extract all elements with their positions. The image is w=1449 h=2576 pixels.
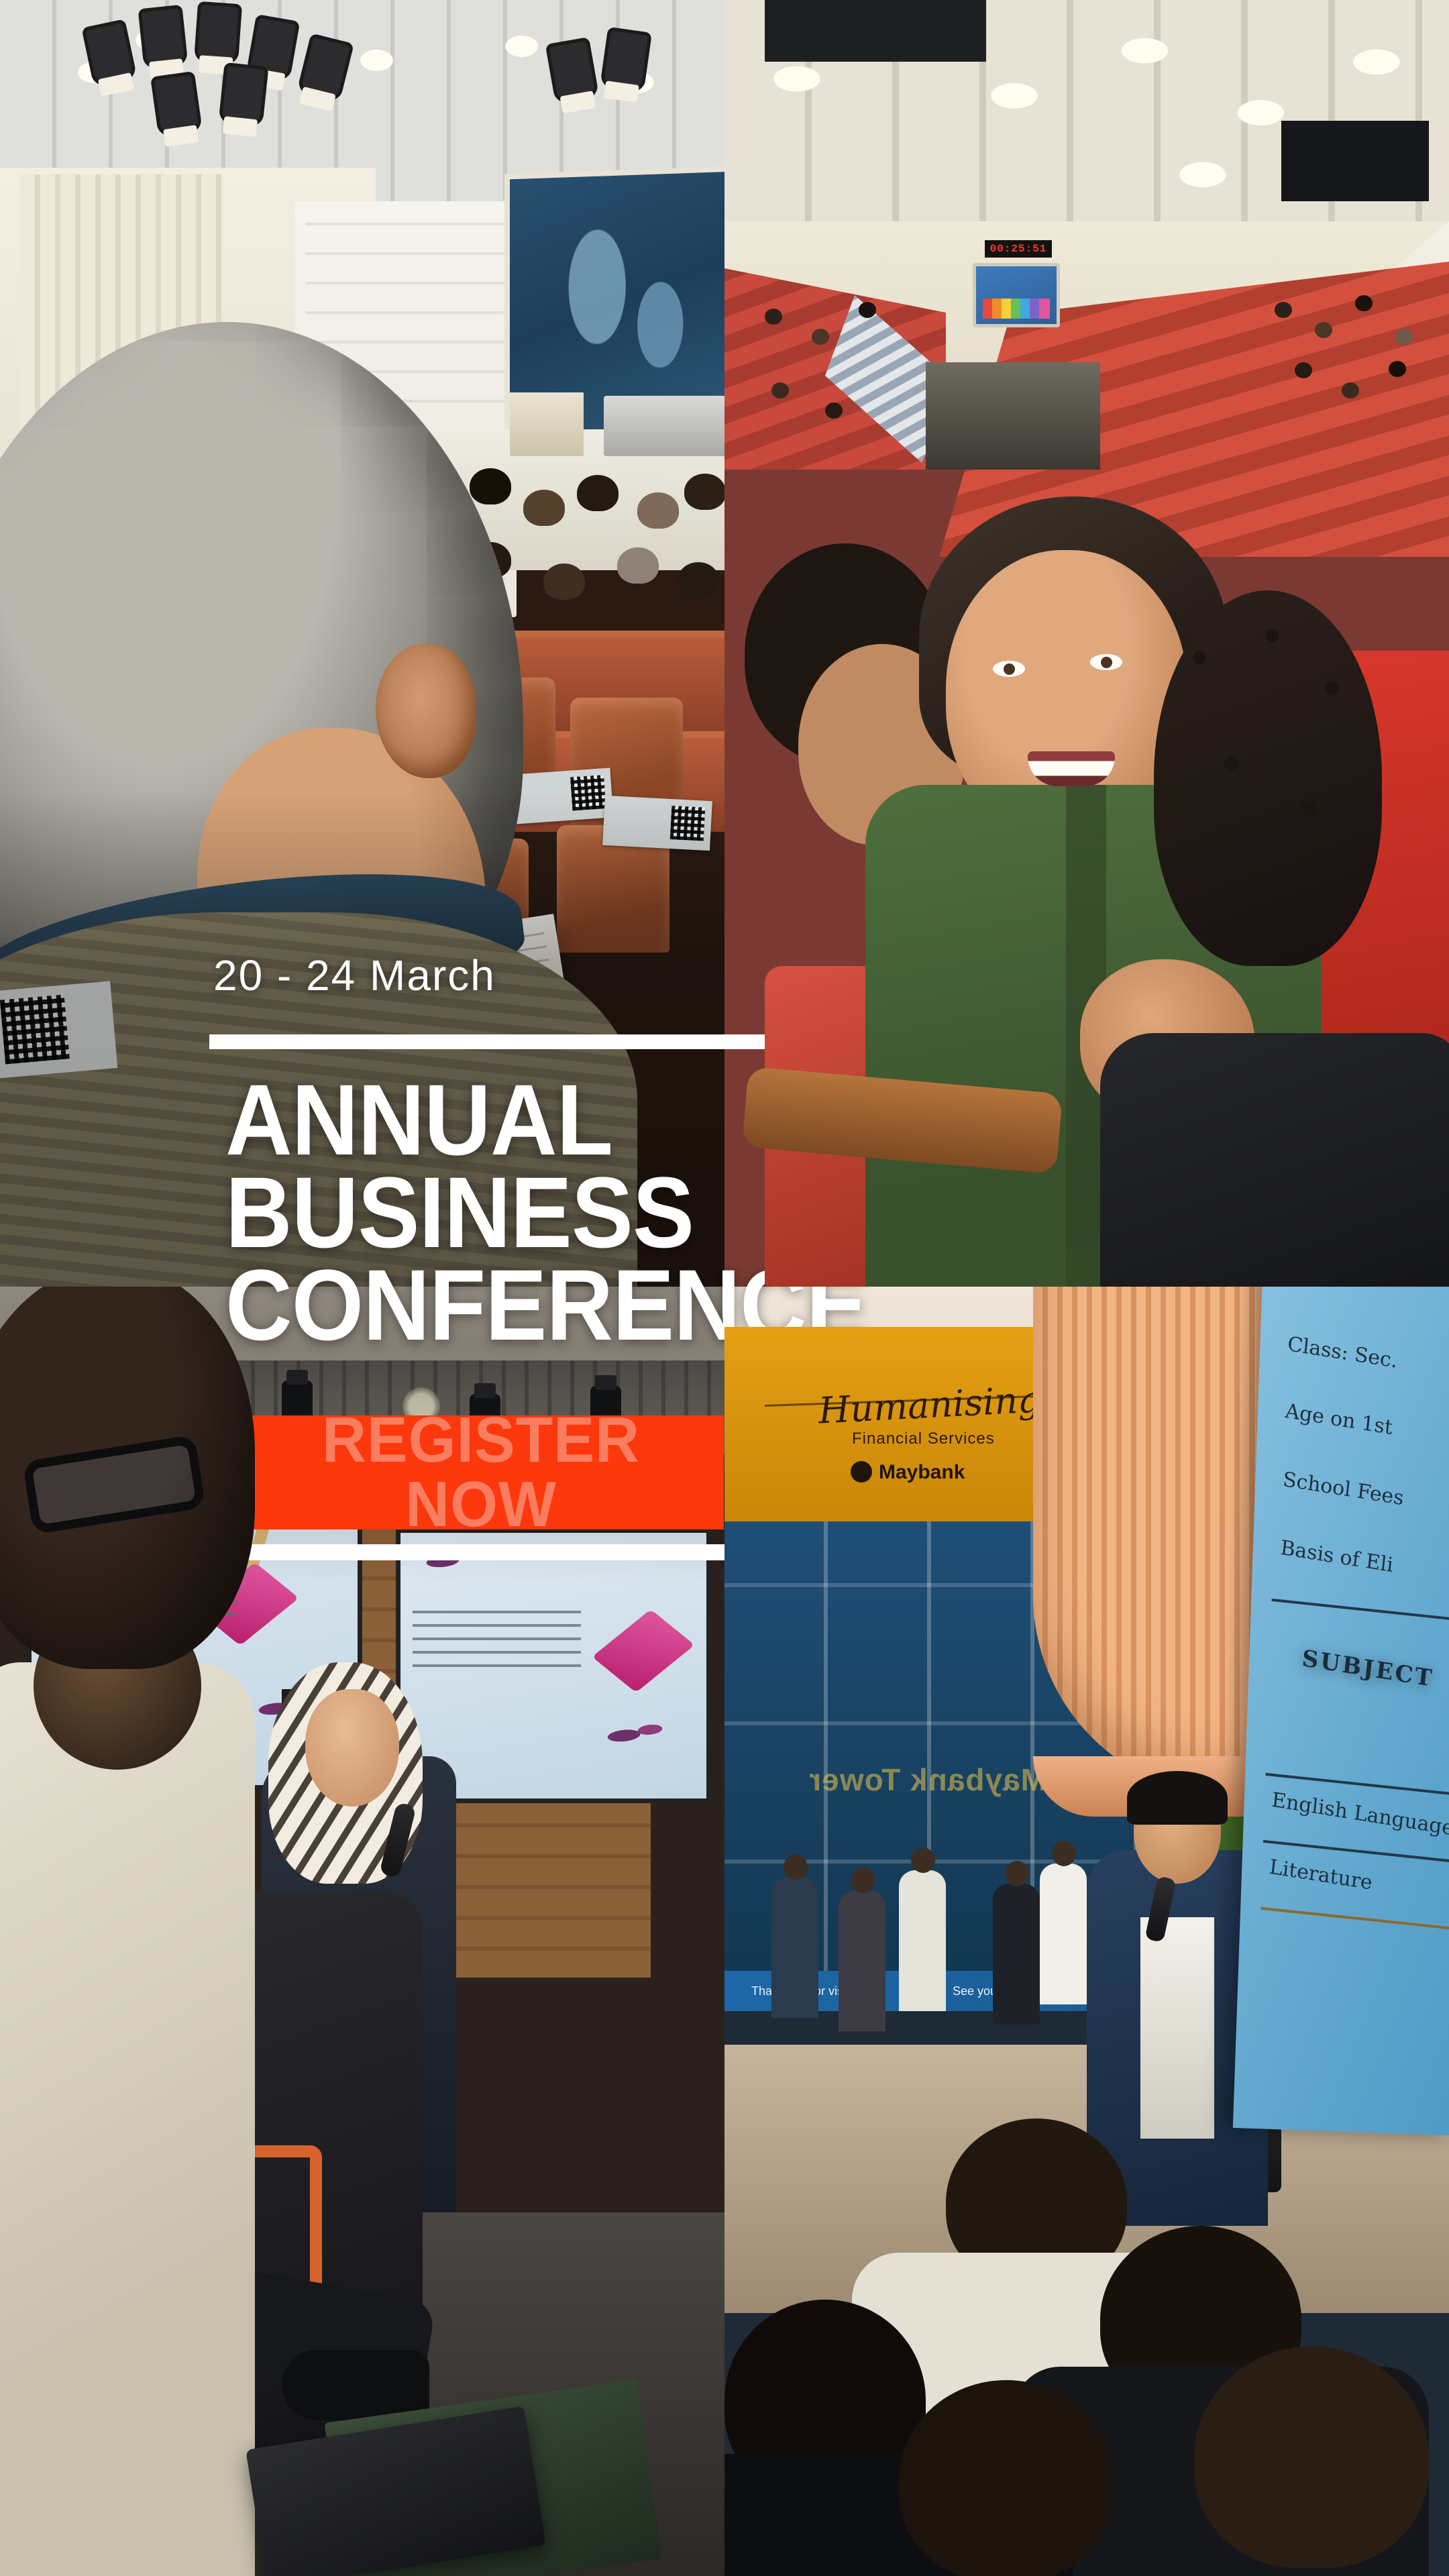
sign-subline: Financial Services xyxy=(852,1431,995,1447)
ear xyxy=(376,644,476,778)
distant-visitor xyxy=(993,1884,1040,2025)
distant-visitor xyxy=(1040,1864,1087,2004)
board-subject: Literature xyxy=(1268,1856,1449,1908)
board-row: School Fees xyxy=(1282,1468,1449,1520)
event-date: 20 - 24 March xyxy=(213,954,496,997)
eye xyxy=(1090,654,1122,670)
board-subject: English Language xyxy=(1271,1789,1449,1841)
distant-visitor xyxy=(899,1870,946,2011)
photo-bottom-right: Humanising Financial Services Maybank Ma… xyxy=(724,1287,1449,2576)
attendee-head xyxy=(899,2380,1114,2576)
glass-reflection-text: Maybank Tower xyxy=(765,1750,1046,1810)
register-now-button[interactable]: REGISTER NOW xyxy=(238,1415,724,1529)
board-row: Age on 1st xyxy=(1284,1400,1449,1452)
foreground-audience xyxy=(724,2078,1449,2576)
speaker-hair xyxy=(1127,1771,1228,1825)
folded-jacket xyxy=(1100,1033,1449,1287)
board-row: Class: Sec. xyxy=(1287,1333,1449,1385)
distant-visitor xyxy=(771,1877,818,2018)
school-info-board: Class: Sec. Age on 1st School Fees Basis… xyxy=(1233,1287,1449,2135)
distant-visitor xyxy=(839,1890,885,2031)
mouth xyxy=(1028,751,1115,786)
conference-poster: 00:25:51 xyxy=(0,0,1449,2576)
board-row: Basis of Eli xyxy=(1279,1537,1449,1589)
register-now-label: REGISTER NOW xyxy=(250,1408,712,1537)
foreground-attendee xyxy=(0,1662,255,2576)
attendee-curly-hair xyxy=(1154,590,1382,966)
maybank-brand-label: Maybank xyxy=(879,1462,965,1483)
eye xyxy=(993,661,1025,677)
shoe xyxy=(282,2350,429,2420)
attendee-head xyxy=(1194,2347,1429,2568)
